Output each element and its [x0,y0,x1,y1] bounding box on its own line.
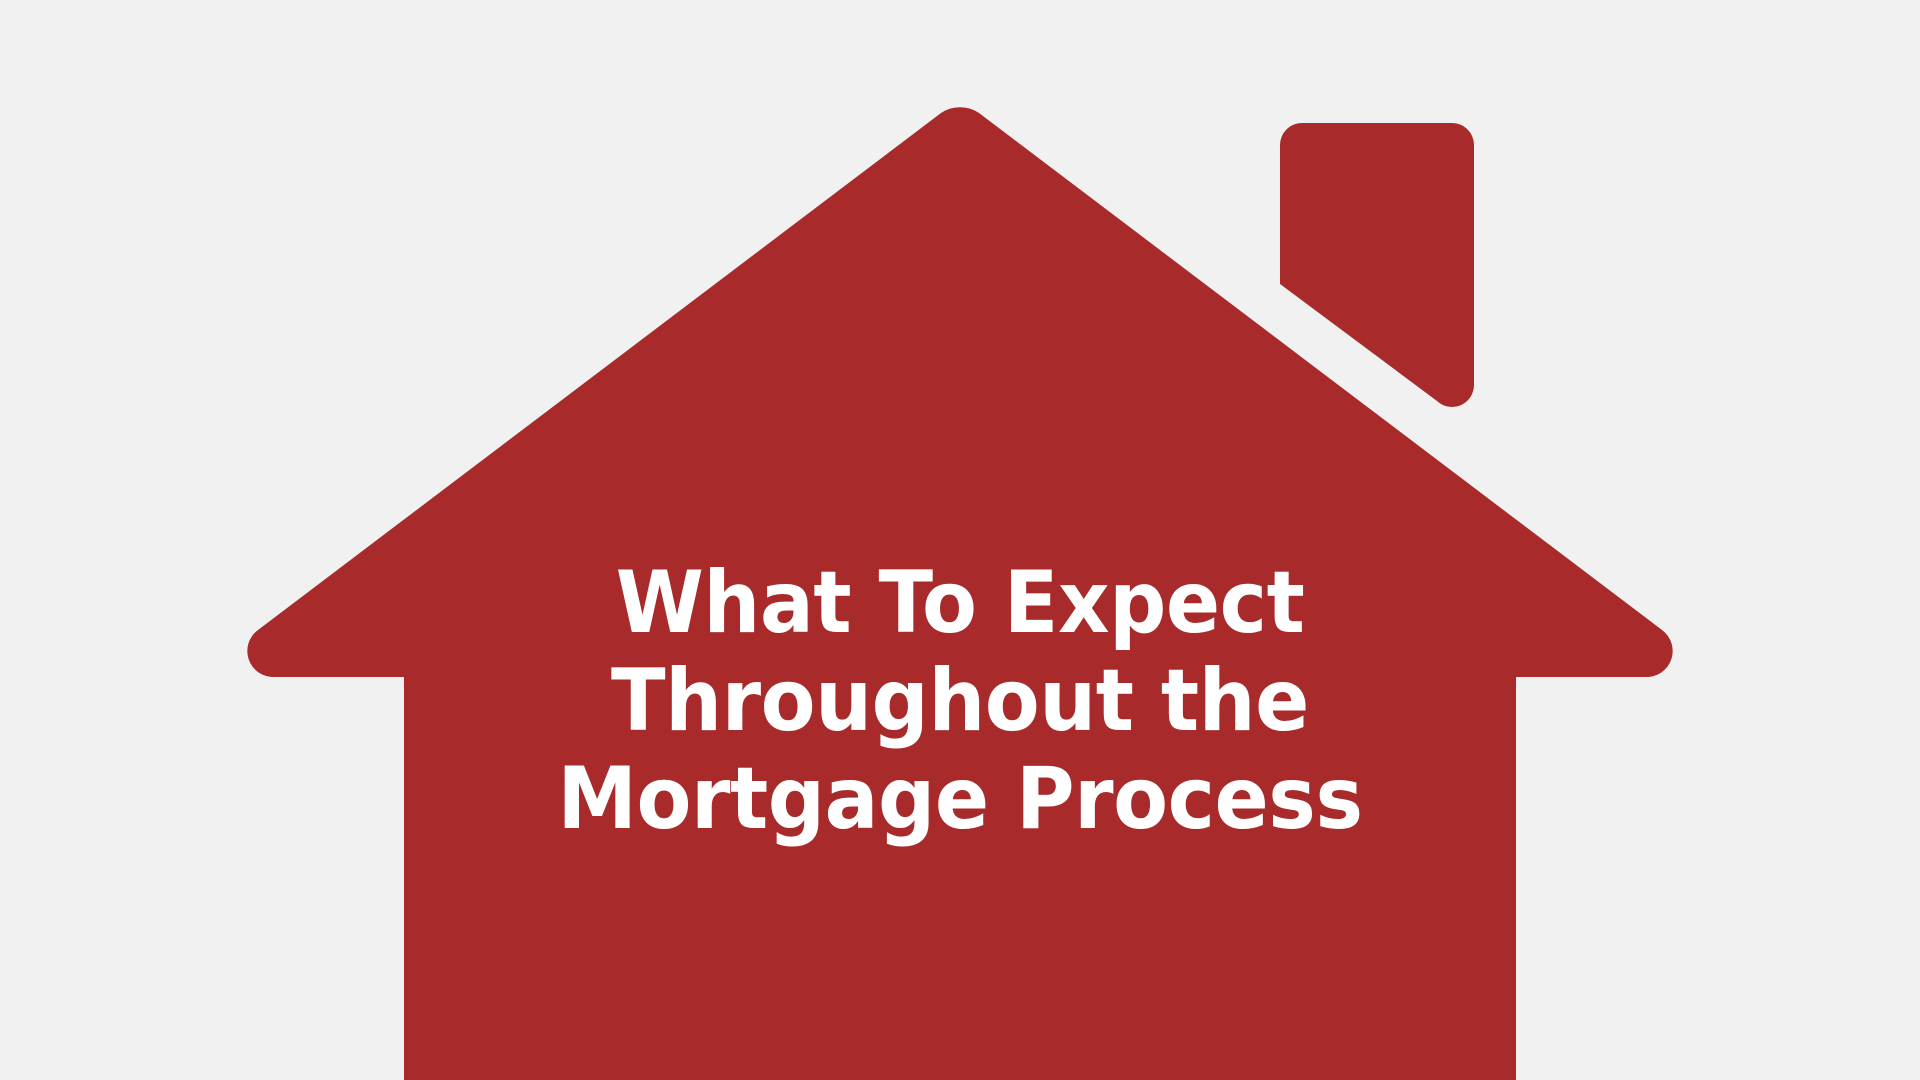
house-illustration [0,0,1920,1080]
slide-canvas: What To Expect Throughout the Mortgage P… [0,0,1920,1080]
